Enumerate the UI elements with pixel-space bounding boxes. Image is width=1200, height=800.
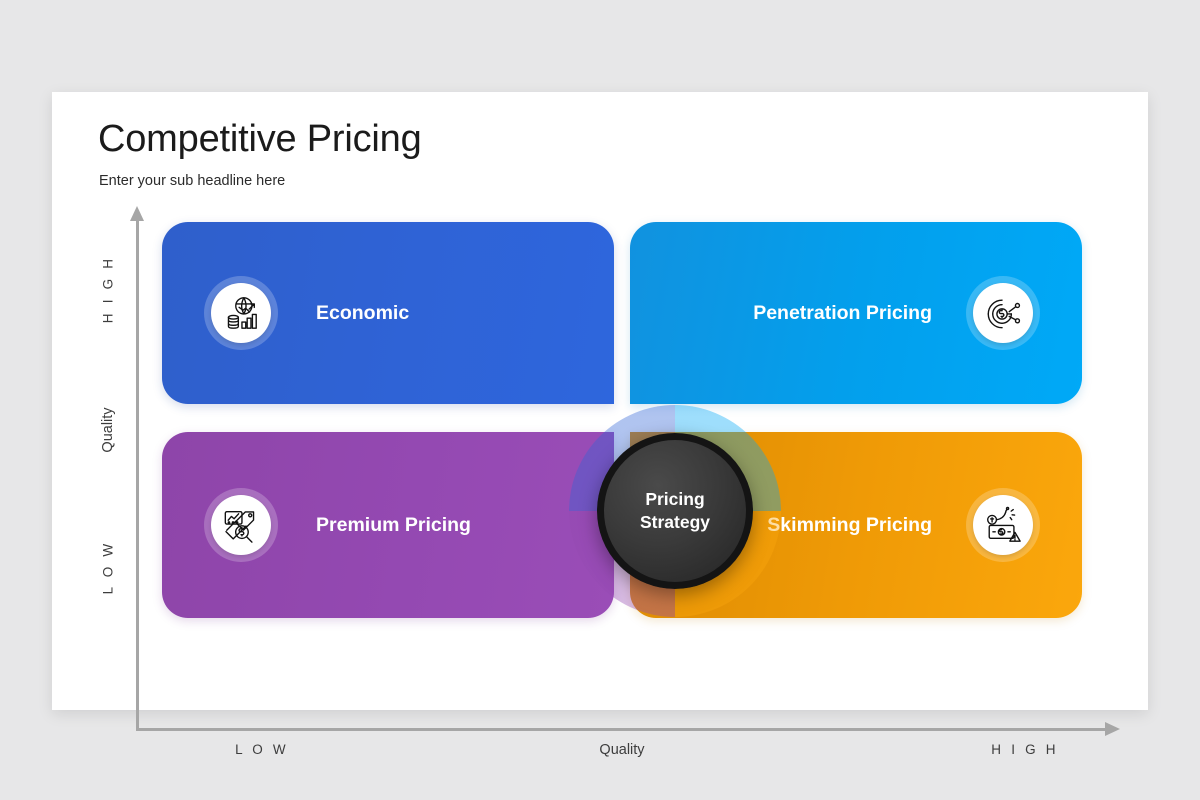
globe-coins-chart-icon	[204, 276, 278, 350]
center-hub[interactable]: Pricing Strategy	[569, 405, 781, 617]
page-subtitle: Enter your sub headline here	[99, 173, 285, 189]
quadrant-label-penetration: Penetration Pricing	[753, 302, 932, 325]
quadrant-label-premium: Premium Pricing	[316, 514, 471, 537]
slide-canvas: Competitive Pricing Enter your sub headl…	[0, 0, 1200, 800]
banknote-warning-icon	[966, 488, 1040, 562]
hub-core: Pricing Strategy	[597, 433, 753, 589]
quadrant-card-penetration[interactable]: Penetration Pricing	[630, 222, 1082, 404]
x-axis-high-label: H I G H	[945, 742, 1105, 757]
quadrant-label-skimming: Skimming Pricing	[767, 514, 932, 537]
quadrant-card-economic[interactable]: Economic	[162, 222, 614, 404]
x-axis-title: Quality	[542, 742, 702, 758]
quadrant-card-premium[interactable]: Premium Pricing	[162, 432, 614, 618]
y-axis-high-label: H I G H	[101, 230, 116, 350]
y-axis-arrow-icon	[130, 206, 144, 221]
chart-tag-dollar-magnifier-icon	[204, 488, 278, 562]
y-axis-title: Quality	[100, 370, 116, 490]
quadrant-label-economic: Economic	[316, 302, 409, 325]
hub-title-line1: Pricing	[645, 488, 704, 511]
hub-title-line2: Strategy	[640, 511, 710, 534]
y-axis-line	[136, 219, 139, 731]
page-title: Competitive Pricing	[98, 118, 422, 161]
y-axis-low-label: L O W	[101, 508, 116, 628]
target-dollar-network-icon	[966, 276, 1040, 350]
x-axis-low-label: L O W	[182, 742, 342, 757]
x-axis-line	[136, 728, 1108, 731]
slide-panel: Competitive Pricing Enter your sub headl…	[52, 92, 1148, 710]
x-axis-arrow-icon	[1105, 722, 1120, 736]
